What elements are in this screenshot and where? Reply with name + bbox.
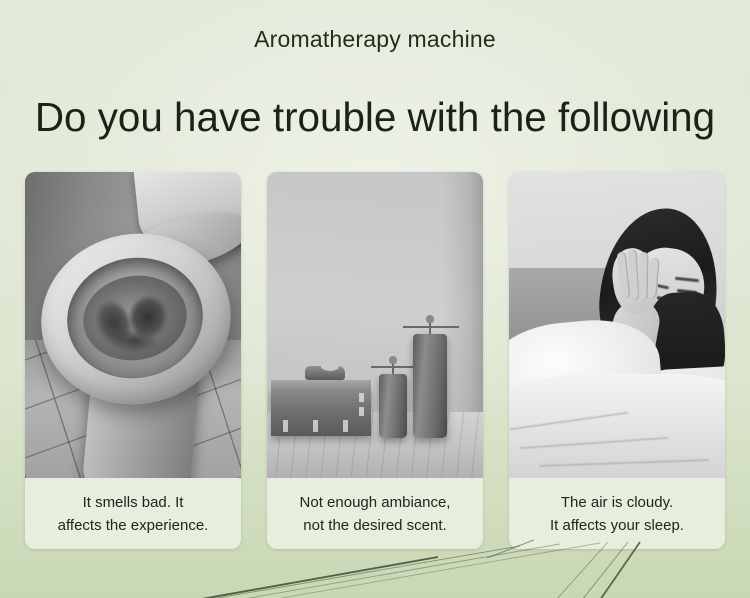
card-caption-2: Not enough ambiance, not the desired sce… [267,478,483,549]
tired-woman-photo [509,172,725,478]
caption-line: not the desired scent. [303,514,446,537]
card-caption-3: The air is cloudy. It affects your sleep… [509,478,725,549]
decorative-line [582,542,628,598]
problem-card-3: The air is cloudy. It affects your sleep… [509,172,725,549]
aromatherapy-promo-banner: Aromatherapy machine Do you have trouble… [0,0,750,598]
large-diffuser-bottle [413,334,447,438]
decorative-line [600,542,640,598]
product-subtitle: Aromatherapy machine [0,24,750,54]
box-top-object-highlight [321,362,339,371]
dirty-toilet-photo [25,172,241,478]
caption-line: affects the experience. [58,514,209,537]
wooden-box-lid [271,380,371,390]
diffuser-stopper [389,356,397,364]
toilet-stain [111,330,157,352]
problem-card-list: It smells bad. It affects the experience… [25,172,725,549]
card-caption-1: It smells bad. It affects the experience… [25,478,241,549]
caption-line: It affects your sleep. [550,514,684,537]
problem-card-2: Not enough ambiance, not the desired sce… [267,172,483,549]
caption-line: The air is cloudy. [561,491,673,514]
problem-card-1: It smells bad. It affects the experience… [25,172,241,549]
box-slat [343,420,348,432]
decorative-line [238,544,560,598]
headline: Do you have trouble with the following [6,92,745,142]
box-slat [313,420,318,432]
decorative-line [270,543,600,598]
reed-diffuser-photo [267,172,483,478]
box-slat [359,393,364,402]
caption-line: It smells bad. It [83,491,184,514]
small-diffuser-bottle [379,374,407,438]
caption-line: Not enough ambiance, [300,491,451,514]
box-slat [359,407,364,416]
decorative-line [556,542,608,598]
diffuser-stopper [426,315,434,323]
decorative-line [206,546,520,598]
decorative-line [196,557,438,598]
diffuser-stick-horizontal [403,326,459,328]
box-slat [283,420,288,432]
